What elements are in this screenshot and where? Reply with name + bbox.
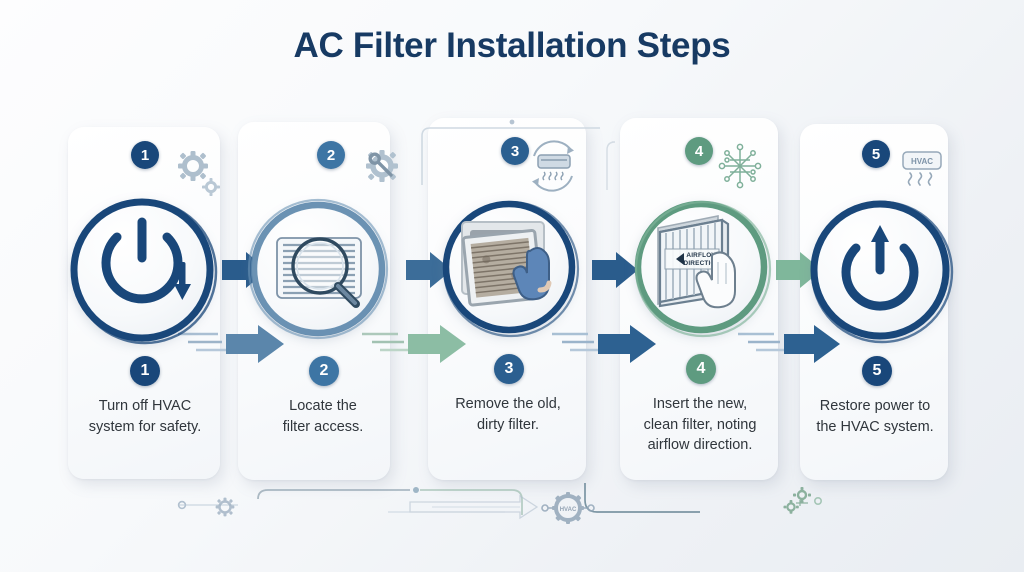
hvac-gear-label: HVAC bbox=[560, 507, 577, 513]
page-title: AC Filter Installation Steps bbox=[0, 26, 1024, 66]
step-2-bottom-badge: 2 bbox=[309, 356, 339, 386]
step-2-icon-circle[interactable] bbox=[252, 203, 384, 335]
step-2-caption-line-2: filter access. bbox=[248, 417, 398, 438]
gear-decor-left bbox=[216, 498, 235, 517]
step-1-top-badge: 1 bbox=[131, 141, 159, 169]
green-gears-decor bbox=[784, 487, 822, 514]
step-4-top-badge: 4 bbox=[685, 137, 713, 165]
step-5-top-badge: 5 bbox=[862, 140, 890, 168]
step-3-caption: Remove the old, dirty filter. bbox=[430, 394, 586, 435]
step-1-caption-line-1: Turn off HVAC bbox=[70, 396, 220, 417]
long-arrow-decor bbox=[388, 496, 537, 518]
step-5-caption: Restore power to the HVAC system. bbox=[802, 396, 948, 437]
step-3-caption-line-1: Remove the old, bbox=[430, 394, 586, 415]
step-1-bottom-badge: 1 bbox=[130, 356, 160, 386]
step-4-caption-line-2: clean filter, noting bbox=[622, 415, 778, 436]
step-1-caption-line-2: system for safety. bbox=[70, 417, 220, 438]
hvac-gear-decor: HVAC bbox=[542, 492, 594, 524]
step-5-bottom-badge: 5 bbox=[862, 356, 892, 386]
step-4-bottom-badge: 4 bbox=[686, 354, 716, 384]
step-3-caption-line-2: dirty filter. bbox=[430, 415, 586, 436]
step-1-caption: Turn off HVAC system for safety. bbox=[70, 396, 220, 437]
step-3-top-badge: 3 bbox=[501, 137, 529, 165]
step-2-caption-line-1: Locate the bbox=[248, 396, 398, 417]
step-1-icon-circle[interactable] bbox=[72, 200, 212, 340]
step-3-bottom-badge: 3 bbox=[494, 354, 524, 384]
step-4-caption: Insert the new, clean filter, noting air… bbox=[622, 394, 778, 456]
step-5-icon-circle[interactable] bbox=[812, 202, 948, 338]
infographic-canvas: AC Filter Installation Steps bbox=[0, 0, 1024, 572]
step-4-icon-circle[interactable] bbox=[636, 202, 766, 332]
step-3-icon-circle[interactable] bbox=[444, 202, 574, 332]
step-5-caption-line-1: Restore power to bbox=[802, 396, 948, 417]
step-5-caption-line-2: the HVAC system. bbox=[802, 417, 948, 438]
step-2-top-badge: 2 bbox=[317, 141, 345, 169]
step-4-caption-line-1: Insert the new, bbox=[622, 394, 778, 415]
step-2-caption: Locate the filter access. bbox=[248, 396, 398, 437]
step-4-caption-line-3: airflow direction. bbox=[622, 435, 778, 456]
